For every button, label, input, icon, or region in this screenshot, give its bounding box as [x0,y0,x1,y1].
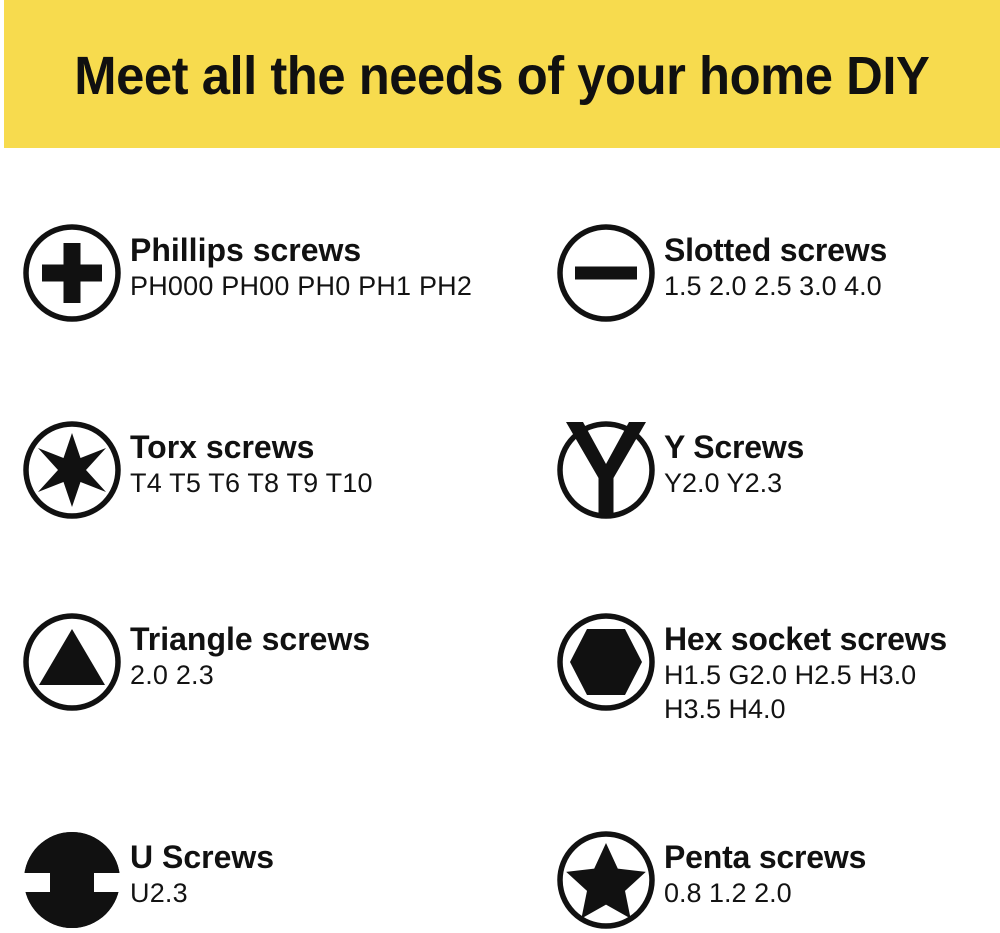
u-screw-icon [22,830,122,930]
bit-sizes-line-2: H3.5 H4.0 [664,692,947,726]
bit-item-torx: Torx screws T4 T5 T6 T8 T9 T10 [22,420,542,520]
bit-item-slotted: Slotted screws 1.5 2.0 2.5 3.0 4.0 [556,223,1000,323]
bit-item-text: Triangle screws 2.0 2.3 [122,612,370,692]
bit-item-penta: Penta screws 0.8 1.2 2.0 [556,830,1000,930]
bit-sizes-line-1: Y2.0 Y2.3 [664,466,804,500]
bit-sizes-line-1: 1.5 2.0 2.5 3.0 4.0 [664,269,887,303]
bit-item-text: Slotted screws 1.5 2.0 2.5 3.0 4.0 [656,223,887,303]
bit-item-y: Y Screws Y2.0 Y2.3 [556,420,1000,520]
penta-five-point-star-icon [556,830,656,930]
bit-sizes-line-1: 2.0 2.3 [130,658,370,692]
bit-item-text: Penta screws 0.8 1.2 2.0 [656,830,866,910]
banner-title: Meet all the needs of your home DIY [74,45,929,103]
bit-title: Triangle screws [130,620,370,658]
bit-title: U Screws [130,838,274,876]
bit-title: Torx screws [130,428,373,466]
bit-item-text: Torx screws T4 T5 T6 T8 T9 T10 [122,420,373,500]
infographic-page: Meet all the needs of your home DIY Phil… [0,0,1000,933]
bit-type-grid: Phillips screws PH000 PH00 PH0 PH1 PH2 S… [0,148,1000,933]
bit-item-phillips: Phillips screws PH000 PH00 PH0 PH1 PH2 [22,223,542,323]
bit-title: Hex socket screws [664,620,947,658]
bit-title: Y Screws [664,428,804,466]
bit-item-text: Hex socket screws H1.5 G2.0 H2.5 H3.0 H3… [656,612,947,726]
triangle-icon [22,612,122,712]
bit-title: Slotted screws [664,231,887,269]
bit-item-text: Phillips screws PH000 PH00 PH0 PH1 PH2 [122,223,472,303]
bit-item-triangle: Triangle screws 2.0 2.3 [22,612,542,712]
bit-sizes-line-1: H1.5 G2.0 H2.5 H3.0 [664,658,947,692]
torx-six-point-star-icon [22,420,122,520]
hex-socket-icon [556,612,656,712]
y-tripoint-icon [556,420,656,520]
bit-sizes-line-1: U2.3 [130,876,274,910]
bit-item-hex-socket: Hex socket screws H1.5 G2.0 H2.5 H3.0 H3… [556,612,1000,726]
bit-item-text: Y Screws Y2.0 Y2.3 [656,420,804,500]
bit-sizes-line-1: 0.8 1.2 2.0 [664,876,866,910]
bit-item-text: U Screws U2.3 [122,830,274,910]
bit-title: Phillips screws [130,231,472,269]
phillips-cross-icon [22,223,122,323]
bit-sizes-line-1: PH000 PH00 PH0 PH1 PH2 [130,269,472,303]
bit-item-u: U Screws U2.3 [22,830,542,930]
header-banner: Meet all the needs of your home DIY [4,0,1000,148]
slotted-flat-icon [556,223,656,323]
bit-sizes-line-1: T4 T5 T6 T8 T9 T10 [130,466,373,500]
bit-title: Penta screws [664,838,866,876]
